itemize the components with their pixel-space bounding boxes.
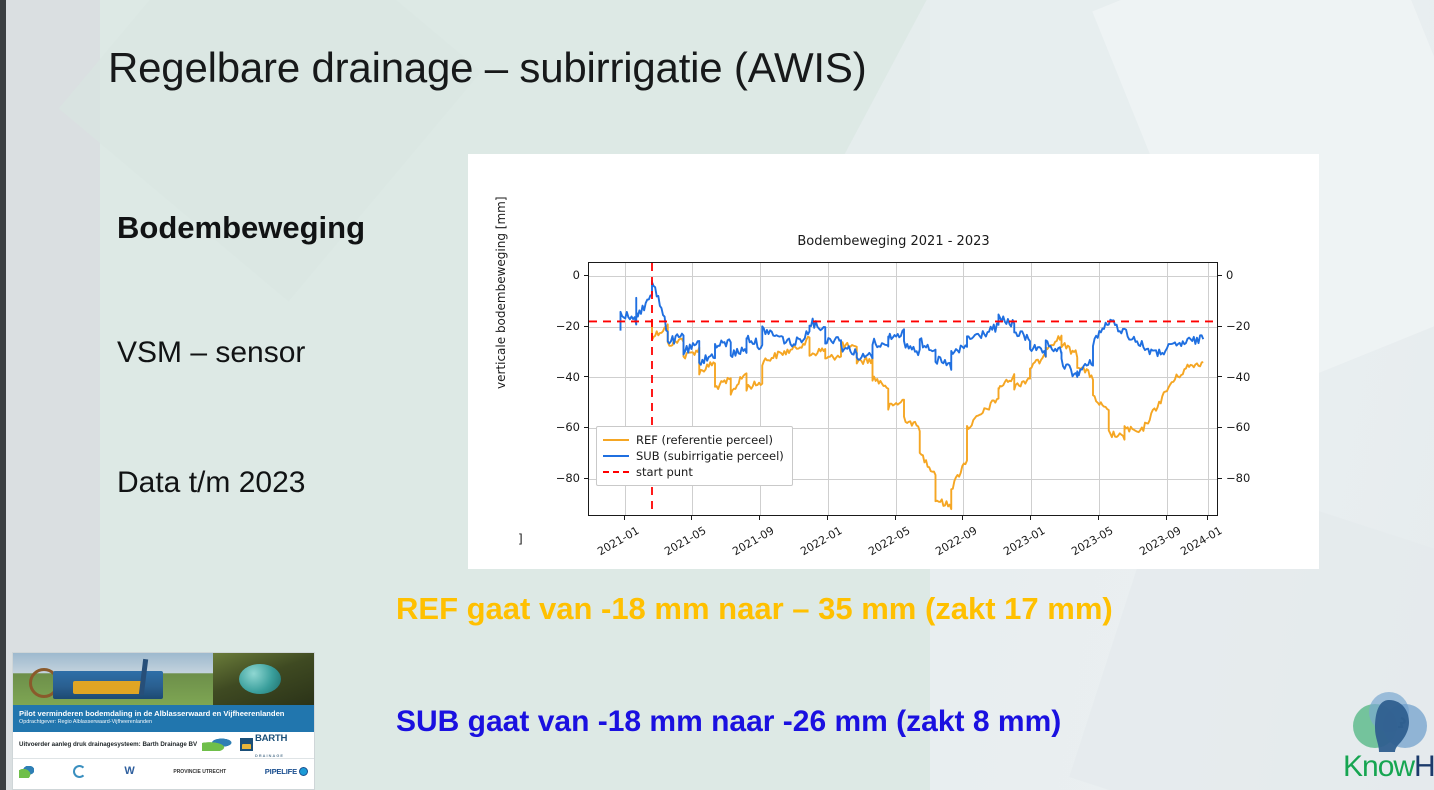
y-tick-mark-60 [584, 427, 588, 428]
poster-photo-drainage-machine [13, 653, 213, 705]
series-line-sub [621, 281, 1204, 377]
chart-figure: Bodembeweging 2021 - 2023 verticale bode… [468, 154, 1319, 569]
y-tick-label-0: 0 [540, 268, 580, 282]
legend-item-ref: REF (referentie perceel) [603, 432, 784, 448]
y-tick-label-right-20: −20 [1226, 319, 1266, 333]
barth-logo-text: BARTH [255, 733, 287, 744]
chart-title: Bodembeweging 2021 - 2023 [468, 234, 1319, 249]
brand-know-text: Know [1343, 750, 1414, 783]
poster-executor-row: Uitvoerder aanleg druk drainagesysteem: … [13, 732, 314, 759]
chart-y-axis-label-clipped: ] [518, 532, 523, 546]
poster-photo-strip [13, 653, 314, 705]
x-tick-label-5: 2022-09 [921, 524, 979, 565]
partner-logo-ktc-icon [73, 765, 86, 778]
poster-partner-logos-row-1: W PROVINCIE UTRECHT PIPELIFE [13, 759, 314, 785]
poster-photo-pipe-chamber [213, 653, 314, 705]
knowh2o-wordmark: KnowH [1343, 752, 1434, 782]
y-tick-label-right-40: −40 [1226, 370, 1266, 384]
poster-title-sub: Opdrachtgever: Regio Alblasserwaard-Vijf… [19, 719, 308, 726]
x-tick-label-0: 2021-01 [583, 524, 641, 565]
chart-y-axis-label: verticale bodembeweging [mm] [494, 196, 508, 389]
y-tick-mark-right-80 [1218, 478, 1222, 479]
x-tick-label-1: 2021-05 [650, 524, 708, 565]
y-tick-label-60: −60 [540, 420, 580, 434]
x-tick-mark-9 [1207, 516, 1208, 520]
sidebar-data-range-label: Data t/m 2023 [117, 466, 305, 500]
legend-swatch-sub [603, 455, 629, 457]
poster-partner-logos-row-2: wellantcollege [13, 785, 314, 790]
y-tick-mark-right-60 [1218, 427, 1222, 428]
barth-mark-icon [240, 738, 253, 751]
sidebar-sensor-label: VSM – sensor [117, 336, 305, 370]
y-tick-label-right-60: −60 [1226, 420, 1266, 434]
y-tick-mark-20 [584, 326, 588, 327]
poster-executor-text: Uitvoerder aanleg druk drainagesysteem: … [19, 741, 197, 748]
x-tick-mark-6 [1030, 516, 1031, 520]
legend-swatch-ref [603, 439, 629, 441]
x-tick-mark-8 [1166, 516, 1167, 520]
y-tick-mark-0 [584, 275, 588, 276]
caption-ref: REF gaat van -18 mm naar – 35 mm (zakt 1… [396, 591, 1113, 627]
barth-drainage-logo: BARTH DRAINAGE [240, 729, 308, 761]
caption-sub: SUB gaat van -18 mm naar -26 mm (zakt 8 … [396, 705, 1061, 739]
poster-title-main: Pilot verminderen bodemdaling in de Albl… [19, 709, 308, 718]
pipelife-label: PIPELIFE [265, 767, 297, 776]
sidebar-heading: Bodembeweging [117, 210, 365, 246]
partner-logo-waterschap-icon: W [124, 766, 134, 777]
legend-item-startpunt: start punt [603, 464, 784, 480]
partner-logo-provincie-label: PROVINCIE UTRECHT [173, 769, 226, 775]
legend-label-ref: REF (referentie perceel) [636, 433, 773, 447]
x-tick-label-4: 2022-05 [854, 524, 912, 565]
x-tick-label-7: 2023-05 [1057, 524, 1115, 565]
machine-yellow-shape [73, 681, 143, 694]
y-tick-label-20: −20 [540, 319, 580, 333]
brand-h2o-text: H [1414, 750, 1434, 783]
y-tick-mark-right-0 [1218, 275, 1222, 276]
x-tick-mark-2 [759, 516, 760, 520]
alblasserwaard-logo-icon [202, 738, 236, 751]
partner-logo-alblasserwaard-icon [19, 766, 34, 778]
project-poster-thumbnail[interactable]: Pilot verminderen bodemdaling in de Albl… [12, 652, 315, 790]
x-tick-mark-5 [962, 516, 963, 520]
barth-logo-subtext: DRAINAGE [255, 754, 284, 758]
knowh2o-mark-icon [1349, 692, 1429, 754]
y-tick-mark-right-20 [1218, 326, 1222, 327]
x-tick-label-3: 2022-01 [786, 524, 844, 565]
chart-panel: Bodembeweging 2021 - 2023 verticale bode… [468, 154, 1319, 569]
x-tick-mark-4 [895, 516, 896, 520]
y-tick-label-right-80: −80 [1226, 471, 1266, 485]
chart-legend: REF (referentie perceel) SUB (subirrigat… [596, 426, 793, 486]
x-tick-label-2: 2021-09 [718, 524, 776, 565]
y-tick-mark-40 [584, 376, 588, 377]
legend-item-sub: SUB (subirrigatie perceel) [603, 448, 784, 464]
x-tick-mark-0 [624, 516, 625, 520]
page-title: Regelbare drainage – subirrigatie (AWIS) [108, 44, 866, 92]
pipe-chamber-shape [239, 664, 281, 694]
legend-swatch-startpunt [603, 471, 629, 473]
pipelife-dot-icon [299, 767, 308, 776]
y-tick-label-right-0: 0 [1226, 268, 1266, 282]
x-tick-mark-1 [691, 516, 692, 520]
x-tick-mark-7 [1098, 516, 1099, 520]
slide-canvas: Regelbare drainage – subirrigatie (AWIS)… [0, 0, 1434, 790]
legend-label-sub: SUB (subirrigatie perceel) [636, 449, 784, 463]
legend-label-startpunt: start punt [636, 465, 693, 479]
x-tick-label-6: 2023-01 [989, 524, 1047, 565]
y-tick-mark-80 [584, 478, 588, 479]
y-tick-mark-right-40 [1218, 376, 1222, 377]
x-tick-mark-3 [827, 516, 828, 520]
y-tick-label-40: −40 [540, 370, 580, 384]
partner-logo-pipelife: PIPELIFE [265, 767, 308, 776]
knowh2o-logo[interactable]: KnowH [1343, 690, 1434, 790]
y-tick-label-80: −80 [540, 471, 580, 485]
